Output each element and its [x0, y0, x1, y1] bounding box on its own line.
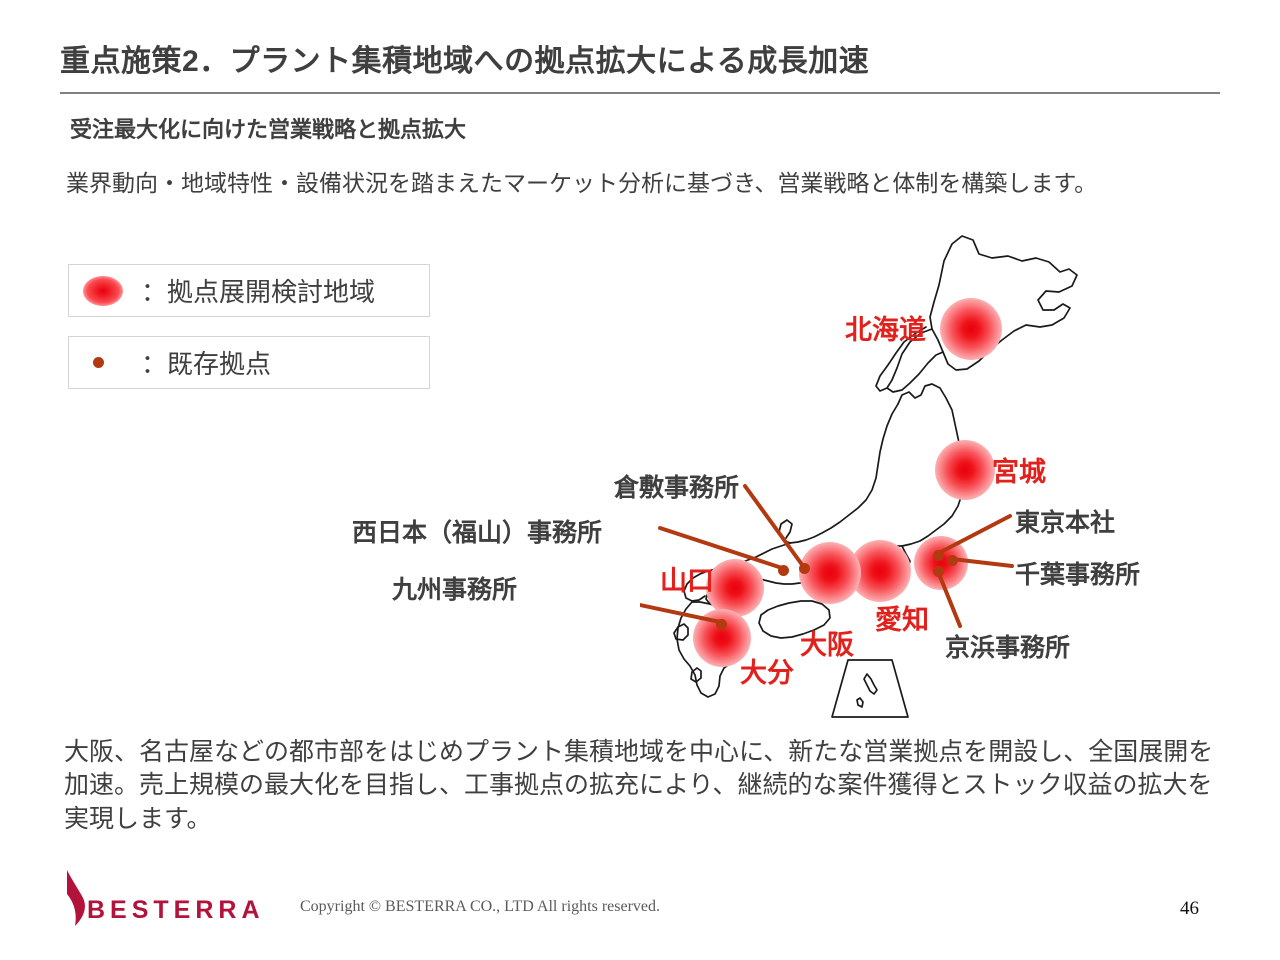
map-label-tokyo-hq: 東京本社: [1015, 503, 1115, 539]
closing-paragraph: 大阪、名古屋などの都市部をはじめプラント集積地域を中心に、新たな営業拠点を開設し…: [64, 736, 1229, 836]
map-label-nishinihon-office: 西日本（福山）事務所: [352, 513, 602, 549]
copyright-text: Copyright © BESTERRA CO., LTD All rights…: [300, 898, 660, 916]
legend-item-candidate: ：拠点展開検討地域: [68, 264, 430, 317]
map-label-hokkaido: 北海道: [845, 308, 926, 347]
map-label-oita: 大分: [740, 651, 794, 690]
legend-swatch-wrap: [83, 357, 141, 368]
office-dot-tokyo: [933, 550, 944, 561]
japan-map: 北海道 宮城 愛知 大阪 山口 大分 倉敷事務所 西日本（福山）事務所 九州事務…: [640, 228, 1240, 718]
map-label-osaka: 大阪: [800, 623, 854, 662]
map-label-kurashiki-office: 倉敷事務所: [614, 468, 739, 504]
page-number: 46: [1180, 898, 1199, 920]
section-subtitle: 受注最大化に向けた営業戦略と拠点拡大: [70, 112, 466, 144]
map-label-keihin-office: 京浜事務所: [945, 628, 1070, 664]
besterra-logo: BESTERRA: [55, 868, 295, 930]
office-dot-kurashiki: [799, 563, 810, 574]
map-label-yamaguchi: 山口: [660, 559, 714, 598]
legend-label-existing: ：既存拠点: [141, 344, 271, 381]
legend-swatch-wrap: [83, 276, 141, 306]
title-divider: [60, 92, 1220, 94]
lead-paragraph: 業界動向・地域特性・設備状況を踏まえたマーケット分析に基づき、営業戦略と体制を構…: [66, 168, 1226, 198]
office-dot-chiba: [947, 555, 958, 566]
legend-item-existing: ：既存拠点: [68, 336, 430, 389]
besterra-logo-text: BESTERRA: [87, 896, 265, 924]
map-label-miyagi: 宮城: [992, 450, 1046, 489]
office-dot-keihin: [933, 566, 944, 577]
page-title: 重点施策2．プラント集積地域への拠点拡大による成長加速: [60, 36, 869, 80]
legend-label-candidate: ：拠点展開検討地域: [141, 272, 375, 309]
office-dot-nishinihon: [778, 565, 789, 576]
map-label-aichi: 愛知: [875, 598, 929, 637]
office-dot-kyushu: [716, 619, 727, 630]
map-label-kyushu-office: 九州事務所: [392, 570, 517, 606]
red-dot-icon: [93, 357, 104, 368]
slide-root: 重点施策2．プラント集積地域への拠点拡大による成長加速 受注最大化に向けた営業戦…: [0, 0, 1280, 960]
map-label-chiba-office: 千葉事務所: [1015, 555, 1140, 591]
red-blob-icon: [83, 276, 123, 306]
